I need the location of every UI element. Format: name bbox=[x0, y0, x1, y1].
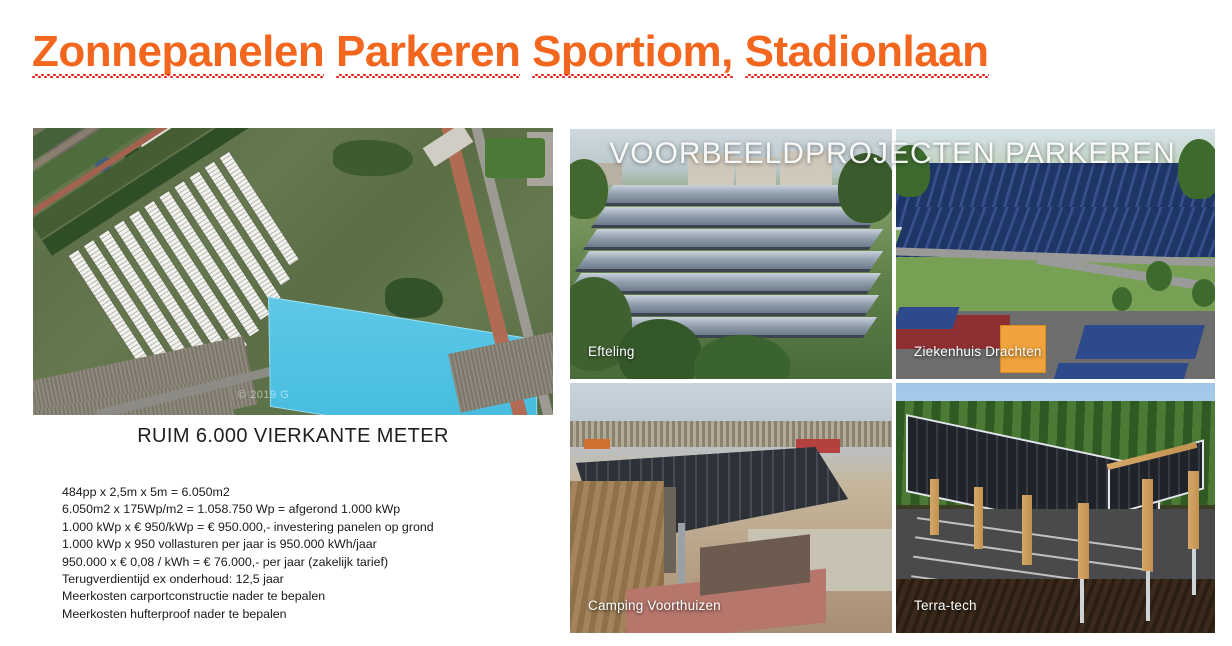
solar-panel-row bbox=[591, 207, 883, 228]
project-render-ziekenhuis-drachten: Ziekenhuis Drachten bbox=[896, 129, 1215, 379]
background-building bbox=[736, 157, 776, 187]
quadrant-caption-camping-voorthuizen: Camping Voorthuizen bbox=[588, 598, 721, 613]
page-title: Zonnepanelen Parkeren Sportiom, Stadionl… bbox=[32, 24, 1132, 80]
aerial-photo-caption: RUIM 6.000 VIERKANTE METER bbox=[33, 425, 553, 448]
title-word-3: Sportiom, bbox=[532, 24, 733, 80]
sports-field bbox=[485, 138, 545, 178]
calc-line: Meerkosten hufterproof nader te bepalen bbox=[62, 606, 532, 623]
project-photo-efteling: Efteling bbox=[570, 129, 892, 379]
calc-line: Meerkosten carportconstructie nader te b… bbox=[62, 588, 532, 605]
solar-carport-small bbox=[1075, 325, 1205, 359]
solar-carport-small bbox=[1053, 363, 1188, 379]
project-photo-camping-voorthuizen: Camping Voorthuizen bbox=[570, 383, 892, 633]
wooden-post bbox=[1022, 495, 1032, 565]
title-word-1: Zonnepanelen bbox=[32, 24, 324, 80]
calc-line: Terugverdientijd ex onderhoud: 12,5 jaar bbox=[62, 571, 532, 588]
tree bbox=[1178, 139, 1215, 199]
aerial-satellite-photo: © 2019 G bbox=[33, 128, 553, 415]
quadrant-caption-efteling: Efteling bbox=[588, 344, 635, 359]
ground-screw-pile bbox=[1192, 549, 1196, 595]
calc-line: 1.000 kWp x € 950/kWp = € 950.000,- inve… bbox=[62, 519, 532, 536]
solar-panel-row bbox=[575, 251, 883, 272]
wooden-post bbox=[1078, 503, 1089, 587]
title-word-2: Parkeren bbox=[336, 24, 520, 80]
quadrant-caption-terra-tech: Terra-tech bbox=[914, 598, 977, 613]
ground-screw-pile bbox=[1080, 579, 1084, 623]
example-projects-collage: VOORBEELDPROJECTEN PARKEREN Efteling bbox=[570, 129, 1215, 633]
calc-line: 484pp x 2,5m x 5m = 6.050m2 bbox=[62, 484, 532, 501]
photo-watermark: © 2019 G bbox=[238, 389, 289, 401]
tree bbox=[838, 153, 892, 223]
background-building bbox=[688, 153, 734, 187]
calc-line: 950.000 x € 0,08 / kWh = € 76.000,- per … bbox=[62, 554, 532, 571]
calc-line: 1.000 kWp x 950 vollasturen per jaar is … bbox=[62, 536, 532, 553]
calculation-text-block: 484pp x 2,5m x 5m = 6.050m2 6.050m2 x 17… bbox=[62, 484, 532, 623]
project-render-terra-tech: Terra-tech bbox=[896, 383, 1215, 633]
solar-panel-row bbox=[583, 229, 883, 250]
wooden-post bbox=[1142, 479, 1153, 571]
tree-cluster bbox=[385, 278, 443, 318]
background-building bbox=[780, 151, 832, 189]
tree bbox=[1146, 261, 1172, 291]
quadrant-caption-ziekenhuis-drachten: Ziekenhuis Drachten bbox=[914, 344, 1042, 359]
wooden-post bbox=[1188, 471, 1199, 549]
tree bbox=[1112, 287, 1132, 311]
tree bbox=[1192, 279, 1215, 307]
ground-screw-pile bbox=[1146, 571, 1150, 621]
presentation-slide: Zonnepanelen Parkeren Sportiom, Stadionl… bbox=[0, 0, 1232, 646]
solar-carport-small bbox=[896, 307, 960, 329]
tree bbox=[896, 145, 930, 197]
wooden-post bbox=[974, 487, 983, 549]
wooden-post bbox=[930, 479, 939, 535]
orange-marker bbox=[584, 439, 610, 449]
title-word-4: Stadionlaan bbox=[745, 24, 989, 80]
bare-treeline bbox=[570, 421, 892, 447]
vegetation-patch bbox=[333, 140, 413, 176]
calc-line: 6.050m2 x 175Wp/m2 = 1.058.750 Wp = afge… bbox=[62, 501, 532, 518]
